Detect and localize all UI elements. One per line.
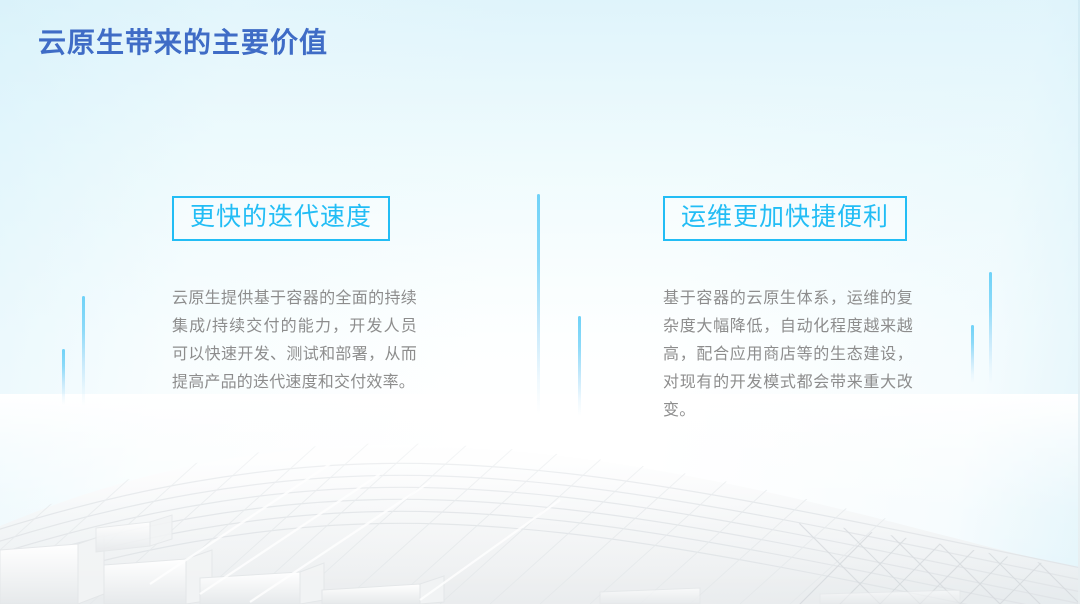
accent-line-left-short [62, 349, 65, 405]
value-body-text-right: 基于容器的云原生体系，运维的复杂度大幅降低，自动化程度越来越高，配合应用商店等的… [663, 285, 913, 425]
value-heading-label-right: 运维更加快捷便利 [681, 203, 889, 232]
accent-line-left-tall [82, 296, 85, 406]
page-title: 云原生带来的主要价值 [38, 21, 328, 61]
accent-line-middle-short [578, 316, 581, 416]
background-architecture-texture [0, 404, 1080, 604]
slide: 云原生带来的主要价值 更快的迭代速度 云原生提供基于容器的全面的持续集成/持续交… [0, 0, 1080, 604]
value-heading-box-left: 更快的迭代速度 [172, 196, 390, 241]
accent-line-middle-tall [537, 194, 540, 414]
value-heading-label-left: 更快的迭代速度 [190, 203, 372, 232]
value-body-text-left: 云原生提供基于容器的全面的持续集成/持续交付的能力，开发人员可以快速开发、测试和… [172, 285, 417, 397]
value-heading-box-right: 运维更加快捷便利 [663, 196, 907, 241]
value-column-left: 更快的迭代速度 云原生提供基于容器的全面的持续集成/持续交付的能力，开发人员可以… [172, 196, 512, 397]
value-column-right: 运维更加快捷便利 基于容器的云原生体系，运维的复杂度大幅降低，自动化程度越来越高… [663, 196, 1003, 425]
